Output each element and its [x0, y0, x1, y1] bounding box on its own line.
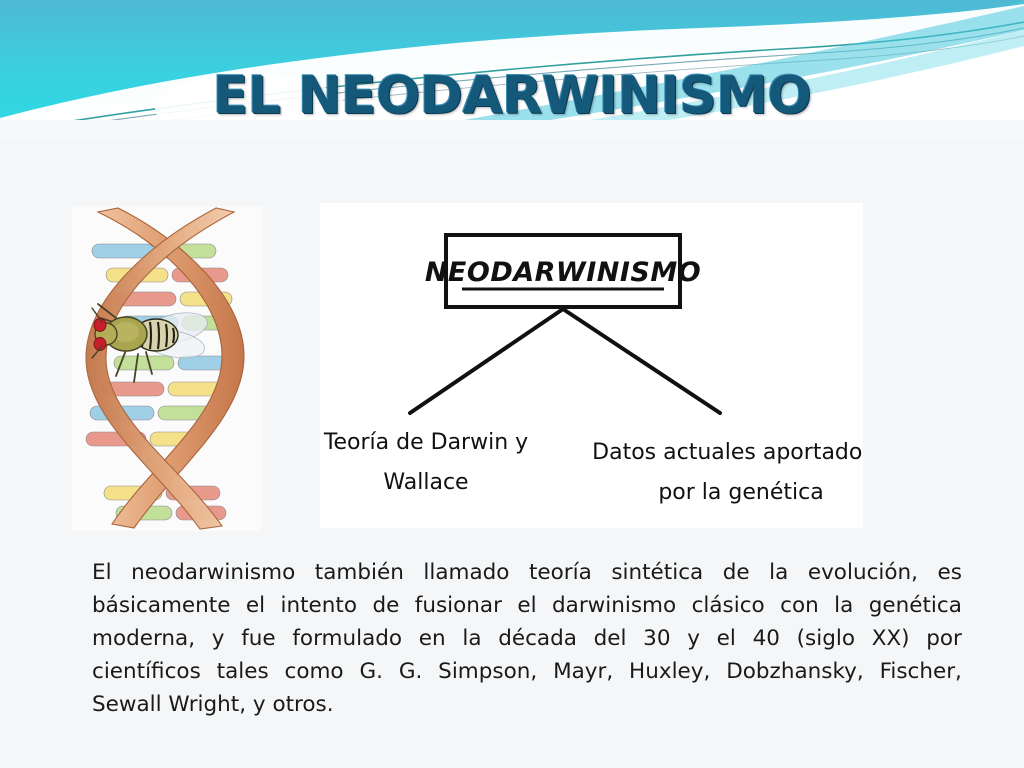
diagram-branch-right-line1: Datos actuales aportados: [592, 440, 863, 465]
body-line: básicamenteelintentodefusionareldarwinis…: [92, 589, 962, 622]
concept-diagram-graphic: NEODARWINISMO Teoría de Darwin y Wallace…: [320, 203, 863, 528]
body-paragraph: Elneodarwinismotambiénllamadoteoríasinté…: [92, 556, 962, 721]
diagram-branch-left-line1: Teoría de Darwin y: [323, 430, 528, 455]
diagram-branch-right-line2: por la genética: [658, 480, 823, 505]
body-line: moderna,yfueformuladoenladécadadel30yel4…: [92, 622, 962, 655]
body-line: Sewall Wright, y otros.: [92, 688, 962, 721]
diagram-root-label: NEODARWINISMO: [425, 257, 701, 288]
dna-helix-illustration: [72, 206, 262, 531]
body-line: científicostalescomoG.G.Simpson,Mayr,Hux…: [92, 655, 962, 688]
diagram-branch-left-line2: Wallace: [383, 470, 468, 495]
slide-canvas: EL NEODARWINISMO: [0, 0, 1024, 768]
page-title: EL NEODARWINISMO: [0, 66, 1024, 126]
dna-helix-graphic: [72, 206, 262, 531]
concept-diagram-panel: NEODARWINISMO Teoría de Darwin y Wallace…: [320, 203, 863, 528]
body-line: Elneodarwinismotambiénllamadoteoríasinté…: [92, 556, 962, 589]
